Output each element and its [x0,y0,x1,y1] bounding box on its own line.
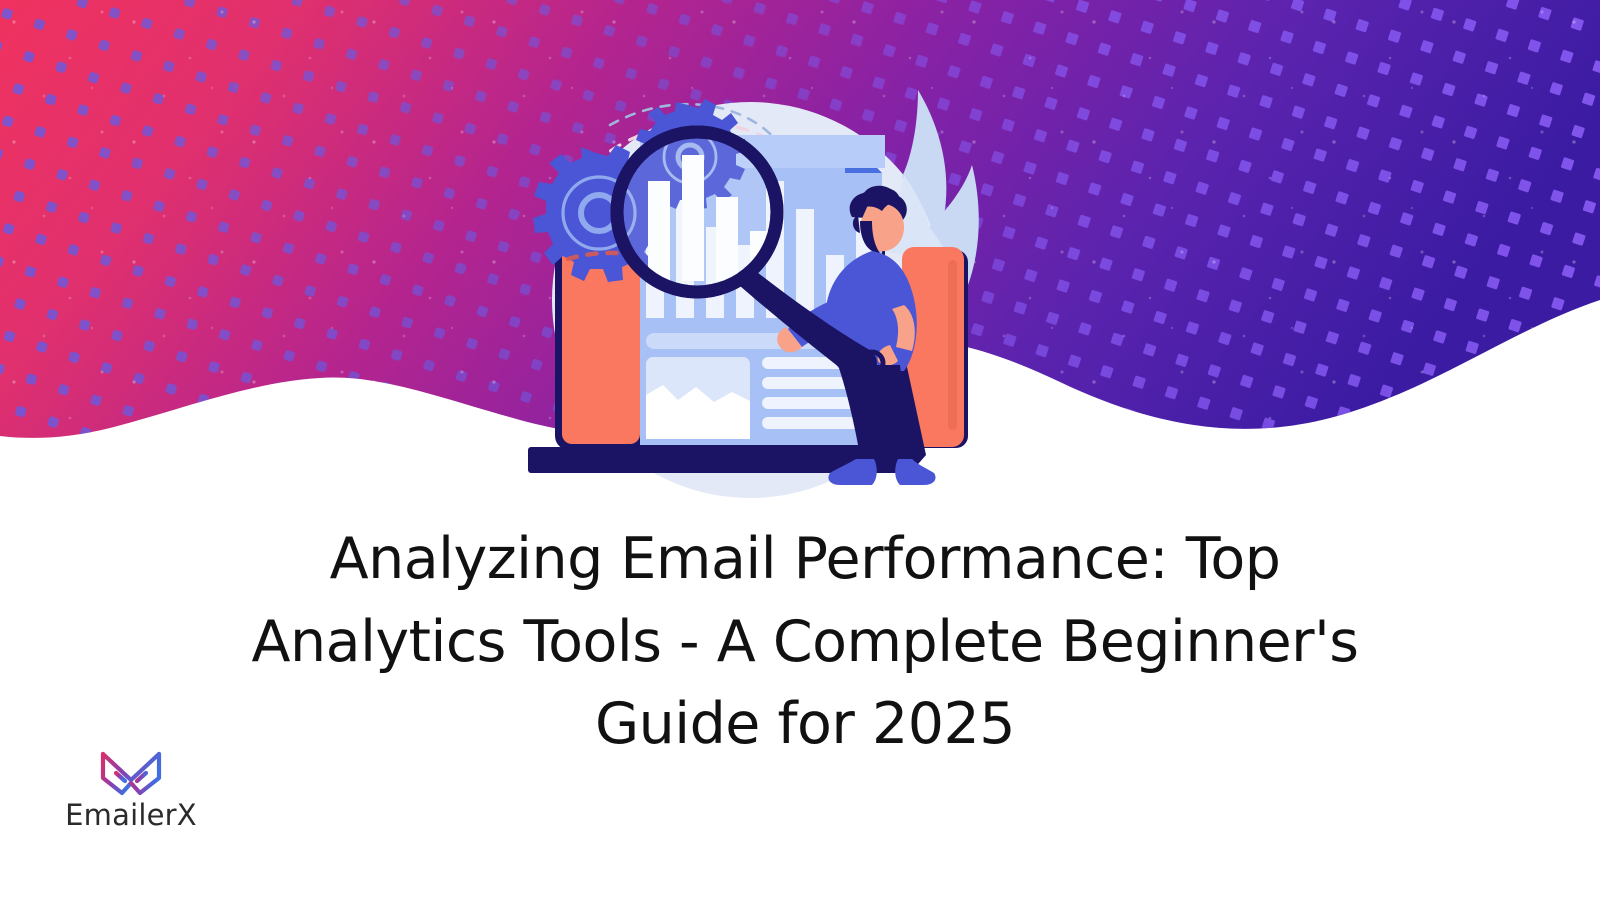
hero-banner: Analyzing Email Performance: Top Analyti… [0,0,1600,900]
area-chart-card [646,357,750,439]
title-line-2: Analytics Tools - A Complete Beginner's [90,601,1520,684]
title-line-3: Guide for 2025 [90,683,1520,766]
title-line-1: Analyzing Email Performance: Top [90,518,1520,601]
brand-wordmark: EmailerX [46,798,216,832]
brand-logo[interactable]: EmailerX [46,748,216,832]
email-analytics-illustration [500,55,1000,535]
emailerx-m-monogram-icon [95,748,167,796]
page-title: Analyzing Email Performance: Top Analyti… [90,518,1520,766]
